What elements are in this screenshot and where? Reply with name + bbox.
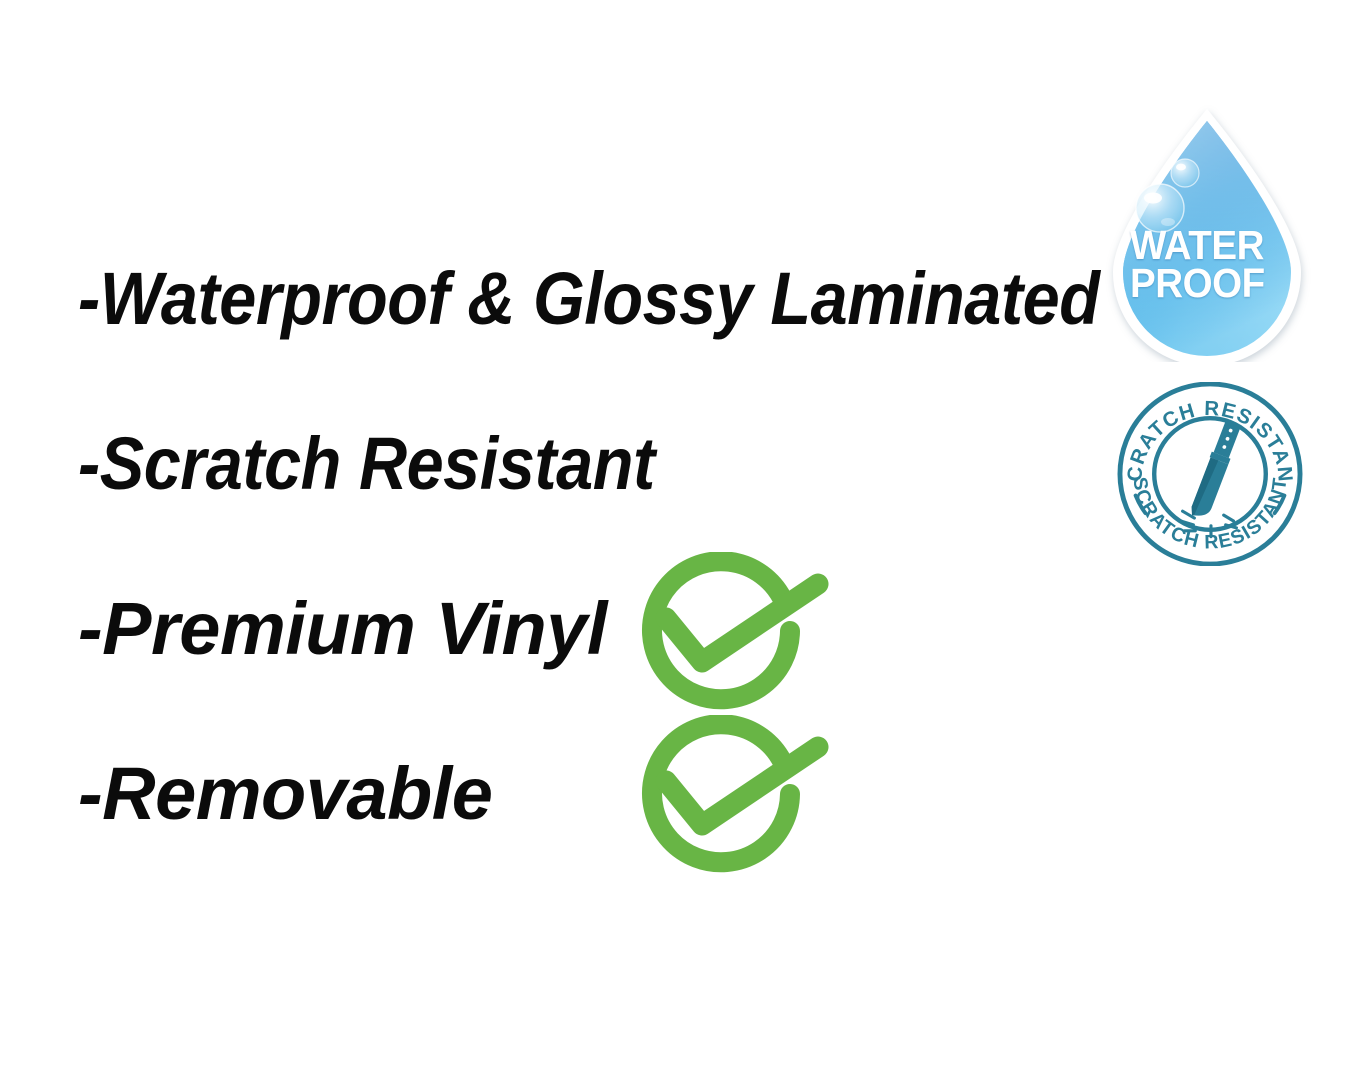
feature-list: -Waterproof & Glossy Laminated -Scratch … xyxy=(0,0,1100,1080)
feature-item-removable: -Removable xyxy=(78,757,492,831)
circle-check-icon xyxy=(640,715,836,875)
feature-item-premium-vinyl: -Premium Vinyl xyxy=(78,592,607,666)
feature-graphic: -Waterproof & Glossy Laminated -Scratch … xyxy=(0,0,1359,1080)
feature-item-waterproof-glossy-laminated: -Waterproof & Glossy Laminated xyxy=(78,262,1099,336)
feature-item-scratch-resistant: -Scratch Resistant xyxy=(78,427,655,501)
scratch-resistant-badge: SCRATCH RESISTANT SCRATCH RESISTANT xyxy=(1112,382,1308,566)
waterproof-badge: WATER PROOF xyxy=(1098,104,1316,362)
scratch-badge-top-text: SCRATCH RESISTANT xyxy=(1112,382,1297,484)
knife-stamp-icon: SCRATCH RESISTANT SCRATCH RESISTANT xyxy=(1112,382,1308,566)
waterproof-badge-text: WATER PROOF xyxy=(1130,226,1290,302)
waterproof-badge-line2: PROOF xyxy=(1130,264,1290,302)
waterproof-badge-line1: WATER xyxy=(1130,226,1290,264)
circle-check-icon xyxy=(640,552,836,712)
